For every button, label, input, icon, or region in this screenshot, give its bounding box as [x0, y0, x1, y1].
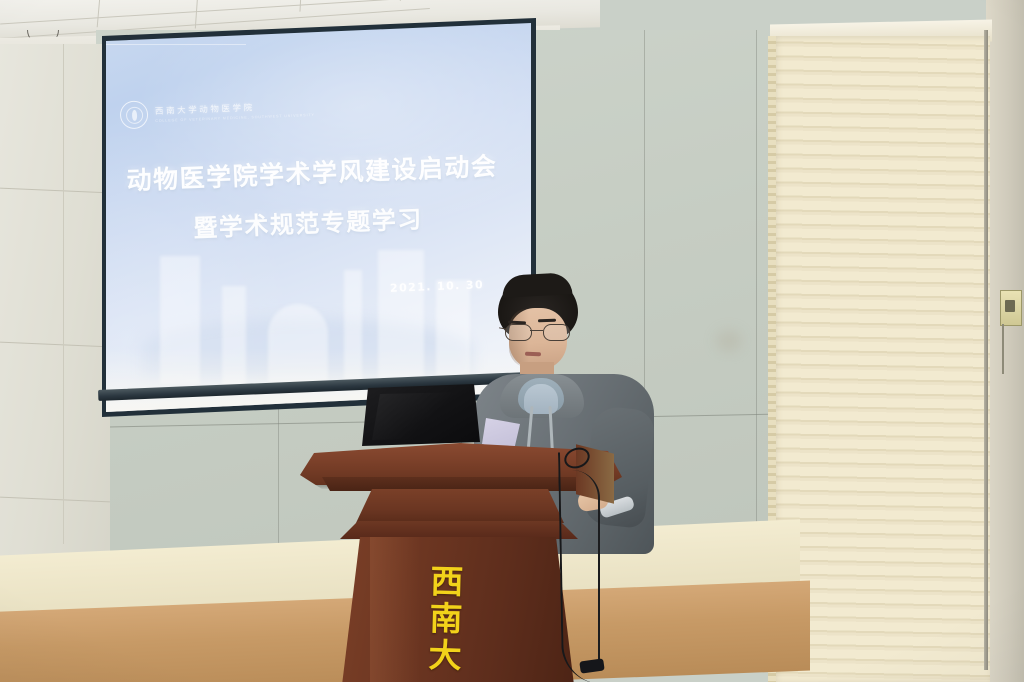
wall-seam: [63, 44, 64, 544]
glasses-icon: [503, 324, 573, 340]
podium-char-1: 西: [430, 565, 464, 599]
wall-seam: [0, 497, 110, 503]
shutter-side-rail: [984, 30, 988, 670]
slide-title-line-1: 动物医学院学术学风建设启动会: [111, 146, 512, 198]
speaker-mouth: [525, 352, 541, 357]
ceiling-grid-line: [400, 0, 401, 1]
wall-stain: [716, 330, 742, 352]
speaker-shirt-collar: [524, 384, 558, 414]
wall-outlet-cable: [1002, 324, 1004, 374]
glasses-lens: [543, 324, 570, 341]
lecture-hall-photo: 西南大学动物医学院 COLLEGE OF VETERINARY MEDICINE…: [0, 0, 1024, 682]
laptop-screen-back: [372, 392, 468, 440]
university-emblem-icon: [120, 100, 149, 129]
logo-text: 西南大学动物医学院 COLLEGE OF VETERINARY MEDICINE…: [155, 99, 315, 123]
podium-char-2: 南: [429, 602, 463, 636]
wall-outlet-socket-icon: [1005, 300, 1015, 312]
podium-engraved-text: 西 南 大: [407, 564, 486, 673]
slide-logo: 西南大学动物医学院 COLLEGE OF VETERINARY MEDICINE…: [119, 91, 296, 134]
slide-date: 2021. 10. 30: [390, 278, 485, 295]
right-wall: [986, 0, 1024, 682]
power-cable-segment: [572, 470, 600, 666]
emblem-mark: [131, 109, 136, 120]
glasses-bridge: [530, 330, 543, 331]
projection-screen: 西南大学动物医学院 COLLEGE OF VETERINARY MEDICINE…: [72, 18, 536, 430]
podium-neck: [356, 489, 564, 523]
glasses-temple: [499, 327, 507, 330]
podium-char-3: 大: [428, 639, 462, 673]
screen-canvas: 西南大学动物医学院 COLLEGE OF VETERINARY MEDICINE…: [72, 18, 536, 418]
glasses-lens: [505, 324, 532, 341]
logo-underline: [106, 44, 246, 45]
slide-title-line-2: 暨学术规范专题学习: [127, 197, 488, 246]
ceiling-grid-line: [299, 0, 301, 12]
